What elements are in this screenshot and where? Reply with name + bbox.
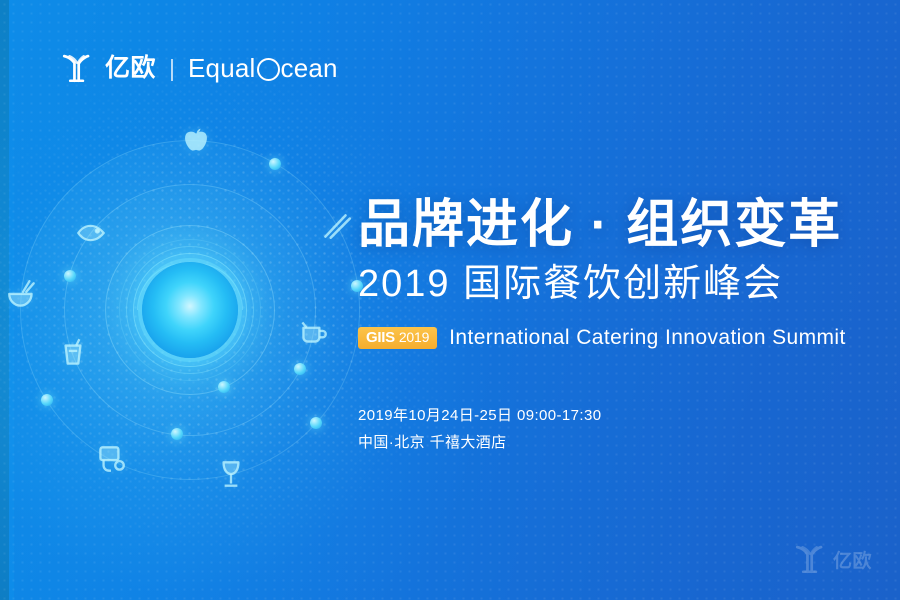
brand-logo-en: Equal cean xyxy=(188,55,338,81)
chopsticks-icon xyxy=(319,209,353,243)
watermark-label: 亿欧 xyxy=(833,546,872,573)
english-title-row: GIIS 2019 International Catering Innovat… xyxy=(358,326,878,350)
orbit-dot-2 xyxy=(310,417,322,429)
orbit-graphic xyxy=(20,140,360,480)
orbit-dot-3 xyxy=(41,394,53,406)
fish-icon xyxy=(74,216,108,250)
orbit-dot-6 xyxy=(64,270,76,282)
watermark-y-mark-icon xyxy=(793,542,827,576)
wine-glass-icon xyxy=(214,457,248,491)
event-title-sub: 2019 国际餐饮创新峰会 xyxy=(358,260,878,309)
event-datetime: 2019年10月24日-25日 09:00-17:30 xyxy=(358,402,878,430)
event-meta: 2019年10月24日-25日 09:00-17:30 中国·北京 千禧大酒店 xyxy=(358,402,878,458)
equalocean-y-mark-icon xyxy=(60,51,94,85)
event-poster: 亿欧 | Equal cean 品牌进化 · 组织变革 2019 国际餐饮创新峰… xyxy=(0,0,900,600)
event-title-main: 品牌进化 · 组织变革 xyxy=(358,196,878,254)
brand-logo-o-circle-icon xyxy=(257,58,280,81)
glowing-core-icon xyxy=(142,262,238,358)
brand-logo-cn: 亿欧 xyxy=(105,56,156,81)
brand-logo-en-part1: Equal xyxy=(188,55,256,81)
orbit-dot-7 xyxy=(218,381,230,393)
brand-logo[interactable]: 亿欧 | Equal cean xyxy=(60,48,338,88)
event-venue: 中国·北京 千禧大酒店 xyxy=(358,429,878,457)
giis-badge-year: 2019 xyxy=(399,330,429,344)
apple-icon xyxy=(179,124,213,158)
bowl-icon xyxy=(5,278,39,312)
giis-badge: GIIS 2019 xyxy=(358,327,437,349)
teapot-icon xyxy=(296,315,330,349)
giis-badge-name: GIIS xyxy=(366,330,395,345)
event-content: 品牌进化 · 组织变革 2019 国际餐饮创新峰会 GIIS 2019 Inte… xyxy=(358,196,878,457)
brand-logo-en-part2: cean xyxy=(281,55,338,81)
brand-logo-divider: | xyxy=(169,57,175,80)
orbit-dot-4 xyxy=(294,363,306,375)
coffee-machine-icon xyxy=(94,442,128,476)
orbit-dot-0 xyxy=(269,158,281,170)
event-title-en: International Catering Innovation Summit xyxy=(449,326,846,350)
juice-cup-icon xyxy=(56,336,90,370)
watermark-logo: 亿欧 xyxy=(793,542,872,576)
